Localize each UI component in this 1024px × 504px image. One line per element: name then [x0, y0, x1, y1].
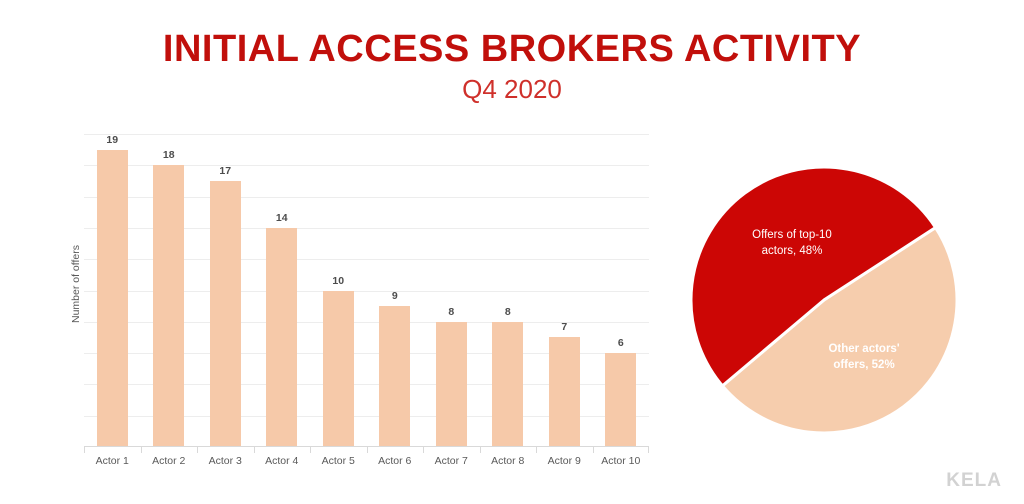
bar[interactable] — [210, 181, 241, 447]
x-axis-tick — [423, 447, 424, 453]
bar[interactable] — [605, 353, 636, 447]
x-axis-tick — [310, 447, 311, 453]
pie-slice-label-top10: Offers of top-10 actors, 48% — [722, 228, 862, 259]
page-title: INITIAL ACCESS BROKERS ACTIVITY — [0, 30, 1024, 70]
bar[interactable] — [153, 165, 184, 447]
bar-slot: 17 — [197, 134, 254, 447]
bar-slot: 10 — [310, 134, 367, 447]
bar[interactable] — [323, 291, 354, 448]
bar-value-label: 10 — [310, 275, 367, 287]
x-axis-label: Actor 7 — [423, 455, 480, 467]
x-axis-label: Actor 3 — [197, 455, 254, 467]
x-axis-label: Actor 6 — [367, 455, 424, 467]
bar-value-label: 18 — [141, 149, 198, 161]
bar[interactable] — [97, 150, 128, 447]
y-axis-title: Number of offers — [70, 224, 82, 344]
pie-svg — [690, 166, 958, 434]
x-axis-label: Actor 1 — [84, 455, 141, 467]
x-axis-tick — [141, 447, 142, 453]
bar[interactable] — [379, 306, 410, 447]
bar[interactable] — [436, 322, 467, 447]
x-axis-label: Actor 4 — [254, 455, 311, 467]
x-axis-labels: Actor 1Actor 2Actor 3Actor 4Actor 5Actor… — [84, 455, 649, 467]
bar-slot: 14 — [254, 134, 311, 447]
x-axis-line — [84, 446, 649, 447]
x-axis-label: Actor 9 — [536, 455, 593, 467]
x-axis-tick — [593, 447, 594, 453]
x-axis-tick — [84, 447, 85, 453]
bar-slot: 18 — [141, 134, 198, 447]
bar-slot: 7 — [536, 134, 593, 447]
bar-value-label: 6 — [593, 337, 650, 349]
bar-slot: 6 — [593, 134, 650, 447]
bar-value-label: 14 — [254, 212, 311, 224]
x-axis-tick — [254, 447, 255, 453]
bar-slot: 8 — [480, 134, 537, 447]
bar-slot: 19 — [84, 134, 141, 447]
bar-slot: 8 — [423, 134, 480, 447]
bar-plot-area: 191817141098876 — [84, 134, 649, 447]
x-axis-tick — [536, 447, 537, 453]
x-axis-label: Actor 5 — [310, 455, 367, 467]
bar-slot: 9 — [367, 134, 424, 447]
chart-header: INITIAL ACCESS BROKERS ACTIVITY Q4 2020 — [0, 0, 1024, 103]
x-axis-label: Actor 10 — [593, 455, 650, 467]
bar[interactable] — [549, 337, 580, 447]
x-axis-label: Actor 2 — [141, 455, 198, 467]
x-axis-tick — [197, 447, 198, 453]
bar-value-label: 9 — [367, 290, 424, 302]
kela-watermark: KELA — [946, 470, 1002, 492]
x-axis-end-tick — [648, 447, 649, 453]
pie-slice-label-other: Other actors' offers, 52% — [794, 342, 934, 373]
bar-series: 191817141098876 — [84, 134, 649, 447]
x-axis-label: Actor 8 — [480, 455, 537, 467]
bar-chart: Number of offers 191817141098876 Actor 1… — [55, 126, 655, 481]
bar[interactable] — [266, 228, 297, 447]
bar[interactable] — [492, 322, 523, 447]
bar-value-label: 19 — [84, 134, 141, 146]
x-axis-tick — [480, 447, 481, 453]
bar-value-label: 17 — [197, 165, 254, 177]
page-subtitle: Q4 2020 — [0, 76, 1024, 103]
bar-value-label: 8 — [423, 306, 480, 318]
x-axis-tick — [367, 447, 368, 453]
bar-value-label: 8 — [480, 306, 537, 318]
pie-chart: Offers of top-10 actors, 48% Other actor… — [690, 166, 958, 434]
bar-value-label: 7 — [536, 321, 593, 333]
